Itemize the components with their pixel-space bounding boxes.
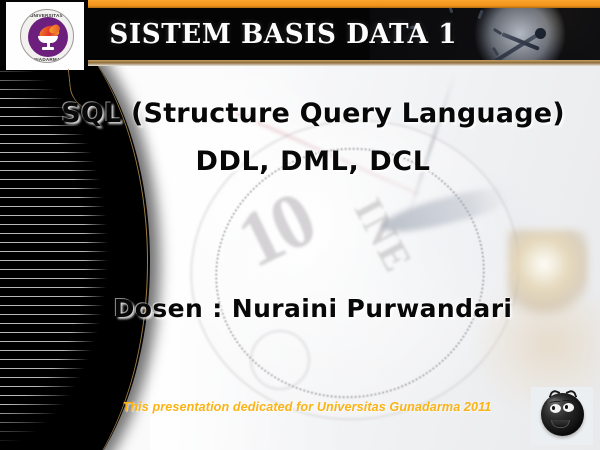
university-logo: UNIVERSITAS GUNADARMA	[6, 2, 84, 70]
slide-header-title: SISTEM BASIS DATA 1	[109, 14, 457, 54]
slide-body: SQL (Structure Query Language) DDL, DML,…	[0, 62, 600, 450]
clock-tick	[492, 47, 499, 56]
emoticon-pupil-right	[565, 405, 568, 409]
slide-header: SISTEM BASIS DATA 1	[0, 0, 600, 66]
clock-center-hub	[535, 28, 546, 39]
slide-subtitle-ddl-dml-dcl: DDL, DML, DCL	[0, 146, 600, 177]
sad-devil-emoticon	[531, 387, 593, 445]
slide-footer-credit: This presentation dedicated for Universi…	[0, 400, 600, 414]
clock-tick	[477, 10, 483, 19]
slide-subtitle-sql: SQL (Structure Query Language)	[0, 98, 600, 129]
logo-ring-text: UNIVERSITAS GUNADARMA	[21, 10, 74, 63]
header-orange-accent-bar	[88, 0, 600, 8]
slide-lecturer-name: Dosen : Nuraini Purwandari	[0, 294, 600, 323]
logo-ring-text-bottom: GUNADARMA	[28, 57, 60, 62]
presentation-slide: 10 INE SISTEM BASIS DATA 1	[0, 0, 600, 450]
emoticon-pupil-left	[552, 406, 555, 410]
logo-outer-ring: UNIVERSITAS GUNADARMA	[20, 9, 74, 63]
logo-ring-text-top: UNIVERSITAS	[30, 13, 63, 18]
